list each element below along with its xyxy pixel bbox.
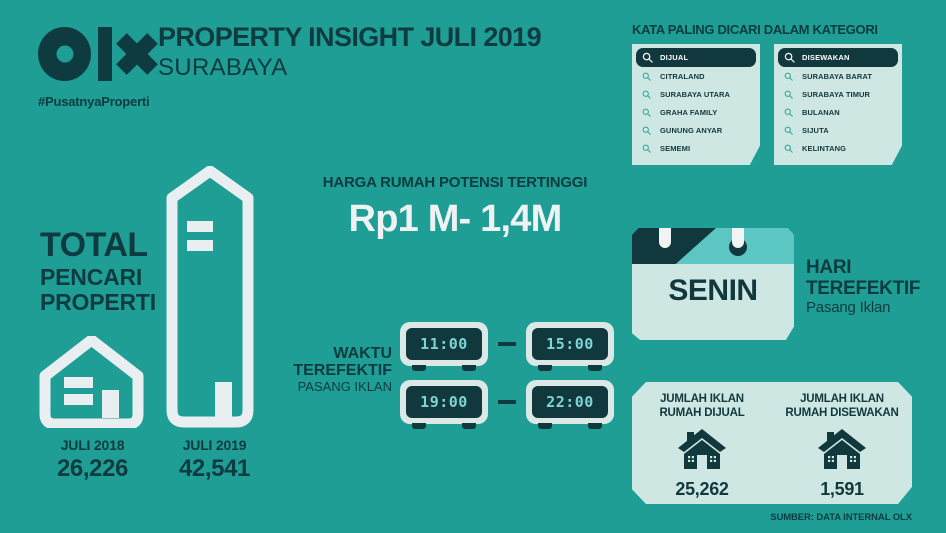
search-icon [642, 52, 653, 63]
search-icon [784, 72, 793, 81]
keyword-item[interactable]: SURABAYA BARAT [778, 67, 898, 85]
keyword-item[interactable]: BULANAN [778, 103, 898, 121]
keywords-header-dijual: DIJUAL [636, 48, 756, 67]
house-icon [676, 426, 728, 472]
total-seekers-title-line3: PROPERTI [40, 291, 156, 314]
search-icon [642, 144, 651, 153]
stat-label: JULI 2018 [30, 437, 155, 453]
search-icon [784, 108, 793, 117]
ads-count-panel: JUMLAH IKLAN RUMAH DIJUAL 25,262 JUMLAH … [632, 382, 912, 504]
source-note: SUMBER: DATA INTERNAL OLX [770, 512, 912, 523]
keyword-item[interactable]: SURABAYA TIMUR [778, 85, 898, 103]
clock-icon: 22:00 [526, 380, 614, 424]
keyword-item[interactable]: SURABAYA UTARA [636, 85, 756, 103]
calendar-ring-icon [659, 220, 671, 248]
total-seekers-title-line2: PENCARI [40, 266, 156, 289]
stat-juli-2019: JULI 2019 42,541 [152, 437, 277, 483]
keyword-label: SURABAYA UTARA [660, 90, 730, 99]
ads-label-line1: JUMLAH IKLAN [632, 393, 772, 407]
keyword-item[interactable]: KELINTANG [778, 139, 898, 157]
effective-day-line3: Pasang Iklan [806, 300, 920, 317]
calendar-icon: SENIN [632, 228, 794, 340]
search-icon [784, 52, 795, 63]
search-icon [784, 90, 793, 99]
keywords-header-disewakan: DISEWAKAN [778, 48, 898, 67]
keyword-item[interactable]: SEMEMI [636, 139, 756, 157]
stat-juli-2018: JULI 2018 26,226 [30, 437, 155, 483]
ads-label-line2: RUMAH DISEWAKAN [772, 407, 912, 421]
effective-day-line2: TEREFEKTIF [806, 279, 920, 300]
keyword-item[interactable]: CITRALAND [636, 67, 756, 85]
effective-day-text: HARI TEREFEKTIF Pasang Iklan [806, 258, 920, 316]
time-range-row: 19:00 22:00 [400, 380, 614, 424]
clock-time: 22:00 [546, 393, 594, 411]
keywords-section-title: KATA PALING DICARI DALAM KATEGORI [632, 22, 878, 37]
ads-value: 25,262 [632, 479, 772, 500]
page-title: PROPERTY INSIGHT JULI 2019 [158, 22, 541, 53]
brand-hashtag: #PusatnyaProperti [38, 94, 158, 109]
keyword-label: CITRALAND [660, 72, 705, 81]
search-icon [642, 108, 651, 117]
ads-value: 1,591 [772, 479, 912, 500]
search-icon [784, 126, 793, 135]
keywords-column-disewakan: DISEWAKAN SURABAYA BARAT SURABAYA TIMUR [774, 44, 902, 165]
clock-screen: 11:00 [406, 328, 482, 360]
clock-time: 15:00 [546, 335, 594, 353]
logo-letter-o-icon [38, 27, 91, 81]
keywords-header-label: DISEWAKAN [802, 53, 850, 62]
range-separator-icon [498, 400, 516, 404]
search-icon [642, 72, 651, 81]
total-seekers-title-line1: TOTAL [40, 228, 156, 262]
search-icon [642, 126, 651, 135]
page-subtitle: SURABAYA [158, 54, 288, 82]
infographic-canvas: #PusatnyaProperti PROPERTY INSIGHT JULI … [0, 0, 946, 533]
ads-label-line2: RUMAH DIJUAL [632, 407, 772, 421]
keywords-column-dijual: DIJUAL CITRALAND SURABAYA UTARA [632, 44, 760, 165]
ads-cell-dijual: JUMLAH IKLAN RUMAH DIJUAL 25,262 [632, 382, 772, 504]
price-label: HARGA RUMAH POTENSI TERTINGGI [290, 174, 620, 191]
time-range-row: 11:00 15:00 [400, 322, 614, 366]
stat-value: 42,541 [152, 455, 277, 483]
effective-time-label-line1: WAKTU [282, 345, 392, 362]
effective-time-label-line3: PASANG IKLAN [282, 380, 392, 394]
calendar-ring-icon [732, 220, 744, 248]
effective-day-calendar: SENIN [632, 228, 794, 340]
olx-logo: #PusatnyaProperti [38, 26, 158, 109]
search-icon [642, 90, 651, 99]
keyword-label: KELINTANG [802, 144, 846, 153]
calendar-day-label: SENIN [632, 274, 794, 308]
keyword-label: SURABAYA BARAT [802, 72, 872, 81]
price-value: Rp1 M- 1,4M [290, 198, 620, 241]
keyword-item[interactable]: GUNUNG ANYAR [636, 121, 756, 139]
effective-time-label-line2: TEREFEKTIF [282, 362, 392, 379]
keyword-label: BULANAN [802, 108, 840, 117]
effective-time-clocks: 11:00 15:00 19:00 22:00 [400, 322, 614, 438]
keyword-item[interactable]: GRAHA FAMILY [636, 103, 756, 121]
keyword-item[interactable]: SIJUTA [778, 121, 898, 139]
calendar-header [632, 228, 794, 264]
keyword-label: GUNUNG ANYAR [660, 126, 722, 135]
keywords-header-label: DIJUAL [660, 53, 688, 62]
olx-logo-mark [38, 26, 158, 82]
ads-cell-disewakan: JUMLAH IKLAN RUMAH DISEWAKAN 1,591 [772, 382, 912, 504]
stat-label: JULI 2019 [152, 437, 277, 453]
clock-screen: 15:00 [532, 328, 608, 360]
clock-icon: 11:00 [400, 322, 488, 366]
stat-value: 26,226 [30, 455, 155, 483]
keywords-columns: DIJUAL CITRALAND SURABAYA UTARA [632, 44, 902, 165]
keyword-label: SEMEMI [660, 144, 690, 153]
calendar-corner-fold [632, 228, 716, 264]
house-bar-2018-icon [38, 336, 145, 428]
house-icon [816, 426, 868, 472]
range-separator-icon [498, 342, 516, 346]
total-seekers-title: TOTAL PENCARI PROPERTI [40, 228, 156, 314]
clock-screen: 22:00 [532, 386, 608, 418]
clock-icon: 15:00 [526, 322, 614, 366]
building-bar-2019-icon [162, 166, 258, 428]
effective-day-line1: HARI [806, 258, 920, 279]
logo-letter-x-icon [117, 34, 158, 74]
keyword-label: SIJUTA [802, 126, 829, 135]
search-icon [784, 144, 793, 153]
clock-time: 19:00 [420, 393, 468, 411]
keyword-label: GRAHA FAMILY [660, 108, 717, 117]
clock-icon: 19:00 [400, 380, 488, 424]
keyword-label: SURABAYA TIMUR [802, 90, 870, 99]
effective-time-label: WAKTU TEREFEKTIF PASANG IKLAN [282, 345, 392, 394]
clock-time: 11:00 [420, 335, 468, 353]
ads-label-line1: JUMLAH IKLAN [772, 393, 912, 407]
clock-screen: 19:00 [406, 386, 482, 418]
logo-letter-l-icon [98, 27, 112, 81]
